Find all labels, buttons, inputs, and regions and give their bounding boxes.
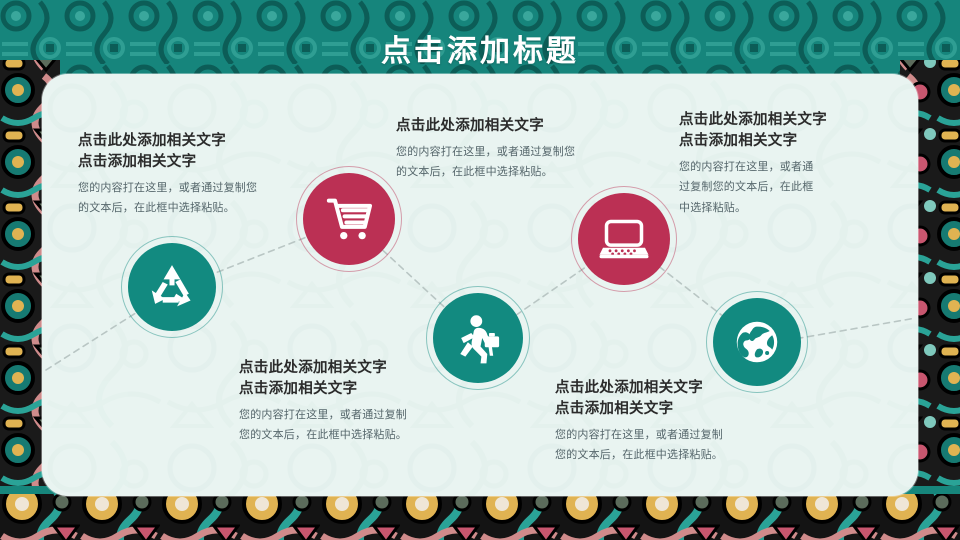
node-ring bbox=[121, 236, 223, 338]
block-left-top: 点击此处添加相关文字 点击添加相关文字 您的内容打在这里，或者通过复制您 的文本… bbox=[78, 131, 293, 219]
slide-canvas: 点击添加标题 bbox=[0, 0, 960, 540]
block-center-top: 点击此处添加相关文字 您的内容打在这里，或者通过复制您 的文本后，在此框中选择粘… bbox=[396, 116, 611, 183]
block-body: 您的内容打在这里，或者通过复制 您的文本后，在此框中选择粘贴。 bbox=[555, 425, 770, 466]
node-ring bbox=[571, 186, 677, 292]
slide-title: 点击添加标题 bbox=[0, 26, 960, 70]
block-heading: 点击此处添加相关文字 点击添加相关文字 bbox=[239, 358, 454, 400]
block-heading: 点击此处添加相关文字 bbox=[396, 116, 611, 137]
block-body: 您的内容打在这里，或者通过复制您 的文本后，在此框中选择粘贴。 bbox=[396, 142, 611, 183]
block-body: 您的内容打在这里，或者通 过复制您的文本后，在此框 中选择粘贴。 bbox=[679, 157, 859, 218]
block-body: 您的内容打在这里，或者通过复制 您的文本后，在此框中选择粘贴。 bbox=[239, 405, 454, 446]
block-body: 您的内容打在这里，或者通过复制您 的文本后，在此框中选择粘贴。 bbox=[78, 178, 293, 219]
node-laptop[interactable] bbox=[578, 193, 670, 285]
block-heading: 点击此处添加相关文字 点击添加相关文字 bbox=[78, 131, 293, 173]
block-heading: 点击此处添加相关文字 点击添加相关文字 bbox=[679, 110, 859, 152]
node-recycle[interactable] bbox=[128, 243, 216, 331]
node-ring bbox=[296, 166, 402, 272]
node-shopping-cart[interactable] bbox=[303, 173, 395, 265]
block-heading: 点击此处添加相关文字 点击添加相关文字 bbox=[555, 378, 770, 420]
block-left-bottom: 点击此处添加相关文字 点击添加相关文字 您的内容打在这里，或者通过复制 您的文本… bbox=[239, 358, 454, 446]
block-right-bottom: 点击此处添加相关文字 点击添加相关文字 您的内容打在这里，或者通过复制 您的文本… bbox=[555, 378, 770, 466]
node-globe[interactable] bbox=[713, 298, 801, 386]
block-right-top: 点击此处添加相关文字 点击添加相关文字 您的内容打在这里，或者通 过复制您的文本… bbox=[679, 110, 859, 218]
